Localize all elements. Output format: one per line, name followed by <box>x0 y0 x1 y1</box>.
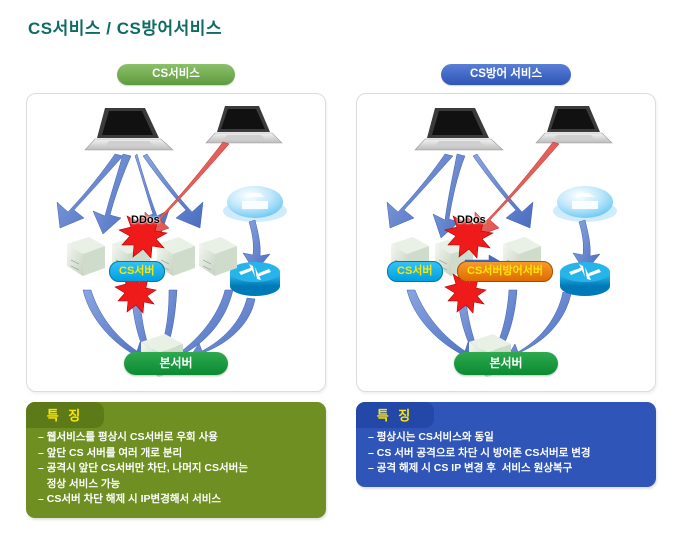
diagram-cs-service: DDos CS서버 본서버 <box>26 93 326 392</box>
cloud-icon <box>223 186 287 222</box>
node-label-main-server: 본서버 <box>454 352 558 375</box>
node-label-cs-server: CS서버 <box>109 261 165 282</box>
feature-tab-label: 특 징 <box>26 402 104 428</box>
list-item: – 평상시는 CS서비스와 동일 <box>368 430 646 446</box>
feature-box-cs-service: 특 징 – 웹서비스를 평상시 CS서버로 우회 사용 – 앞단 CS 서버를 … <box>26 402 326 518</box>
list-item: – 공격시 앞단 CS서버만 차단, 나머지 CS서버는 정상 서비스 가능 <box>38 461 316 492</box>
laptop-icon-attacker-2 <box>536 106 612 143</box>
list-item: – 앞단 CS 서버를 여러 개로 분리 <box>38 446 316 462</box>
page-title: CS서비스 / CS방어서비스 <box>28 14 222 39</box>
ddos-label: DDos <box>457 214 486 226</box>
ddos-label: DDos <box>131 214 160 226</box>
laptop-icon-attacker-1 <box>85 108 173 150</box>
router-icon <box>230 262 280 296</box>
laptop-icon-attacker-2 <box>206 106 282 143</box>
cloud-icon <box>553 186 617 222</box>
node-label-cs-defense-server: CS서버방어서버 <box>457 261 553 282</box>
diagram-cs-defense-service: DDos CS서버 CS서버방어서버 본서버 <box>356 93 656 392</box>
section-header-cs-defense-service: CS방어 서비스 <box>441 64 571 85</box>
feature-box-cs-defense-service: 특 징 – 평상시는 CS서비스와 동일 – CS 서버 공격으로 차단 시 방… <box>356 402 656 487</box>
feature-list: – 평상시는 CS서비스와 동일 – CS 서버 공격으로 차단 시 방어존 C… <box>356 426 656 477</box>
column-cs-defense-service: CS방어 서비스 <box>356 64 656 487</box>
list-item: – CS 서버 공격으로 차단 시 방어존 CS서버로 변경 <box>368 446 646 462</box>
node-label-main-server: 본서버 <box>124 352 228 375</box>
router-icon <box>560 262 610 296</box>
feature-tab-label: 특 징 <box>356 402 434 428</box>
feature-list: – 웹서비스를 평상시 CS서버로 우회 사용 – 앞단 CS 서버를 여러 개… <box>26 426 326 508</box>
laptop-icon-attacker-1 <box>415 108 503 150</box>
section-header-cs-service: CS서비스 <box>117 64 235 85</box>
list-item: – 웹서비스를 평상시 CS서버로 우회 사용 <box>38 430 316 446</box>
list-item: – 공격 해제 시 CS IP 변경 후 서비스 원상복구 <box>368 461 646 477</box>
node-label-cs-server: CS서버 <box>387 261 443 282</box>
list-item: – CS서버 차단 해제 시 IP변경해서 서비스 <box>38 492 316 508</box>
column-cs-service: CS서비스 <box>26 64 326 518</box>
